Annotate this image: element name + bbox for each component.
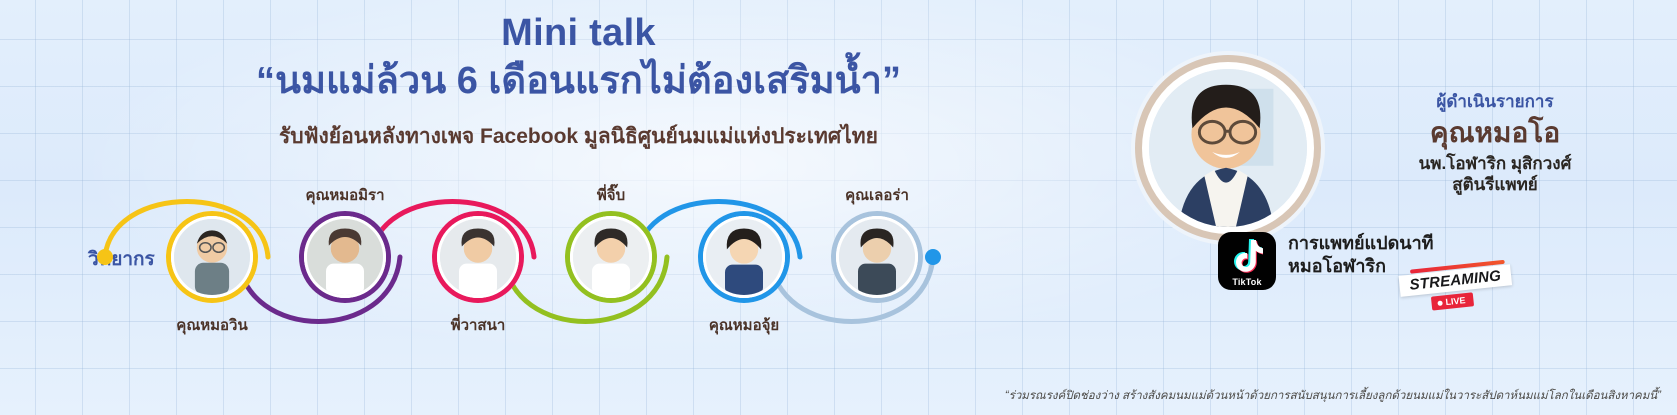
speaker-ring-inner-6 [836,216,918,298]
host-role: ผู้ดำเนินรายการ [1330,88,1660,115]
tiktok-icon[interactable]: TikTok [1218,232,1276,290]
speakers-strip: คุณหมอวิน คุณหมอมิรา [0,175,1060,350]
title-quote: “นมแม่ล้วน 6 เดือนแรกไม่ต้องเสริมน้ำ” [0,56,1157,107]
speaker-name-1: คุณหมอวิน [116,313,308,337]
promo-banner: Mini talk “นมแม่ล้วน 6 เดือนแรกไม่ต้องเส… [0,0,1677,415]
speaker-ring-inner-4 [570,216,652,298]
speaker-avatar-6[interactable] [831,211,923,303]
speaker-name-2: คุณหมอมิรา [249,183,441,207]
speaker-name-3: พี่วาสนา [382,313,574,337]
live-badge: LIVE [1431,292,1474,310]
title-subtitle: รับฟังย้อนหลังทางเพจ Facebook มูลนิธิศูน… [0,120,1157,153]
host-info: ผู้ดำเนินรายการ คุณหมอโอ นพ.โอฬาริก มุสิ… [1330,88,1660,196]
footer-note: “ร่วมรณรงค์ปิดช่องว่าง สร้างสังคมนมแม่ด้… [1005,387,1661,405]
speaker-name-4: พี่จิ๊บ [515,183,707,207]
speaker-name-5: คุณหมอจุ้ย [648,313,840,337]
host-fullname: นพ.โอฬาริก มุสิกวงศ์ [1330,153,1660,174]
host-avatar [1142,62,1314,234]
channel-name-line1: การแพทย์แปดนาที [1288,232,1434,255]
speaker-avatar-3[interactable] [432,211,524,303]
speaker-avatar-1[interactable] [166,211,258,303]
host-photo [1149,69,1307,227]
page-title: Mini talk [0,14,1157,54]
speaker-name-6: คุณเลอร่า [781,183,973,207]
host-job-title: สูตินรีแพทย์ [1330,174,1660,195]
title-block: Mini talk “นมแม่ล้วน 6 เดือนแรกไม่ต้องเส… [0,14,1157,153]
tiktok-wordmark: TikTok [1218,277,1276,287]
speaker-avatar-2[interactable] [299,211,391,303]
speaker-ring-inner-3 [437,216,519,298]
live-dot-icon [1437,301,1442,306]
speaker-avatar-5[interactable] [698,211,790,303]
live-label: LIVE [1445,295,1466,307]
host-nickname: คุณหมอโอ [1330,117,1660,149]
speaker-ring-inner-1 [171,216,253,298]
speaker-ring-inner-2 [304,216,386,298]
speaker-ring-inner-5 [703,216,785,298]
speaker-avatar-4[interactable] [565,211,657,303]
